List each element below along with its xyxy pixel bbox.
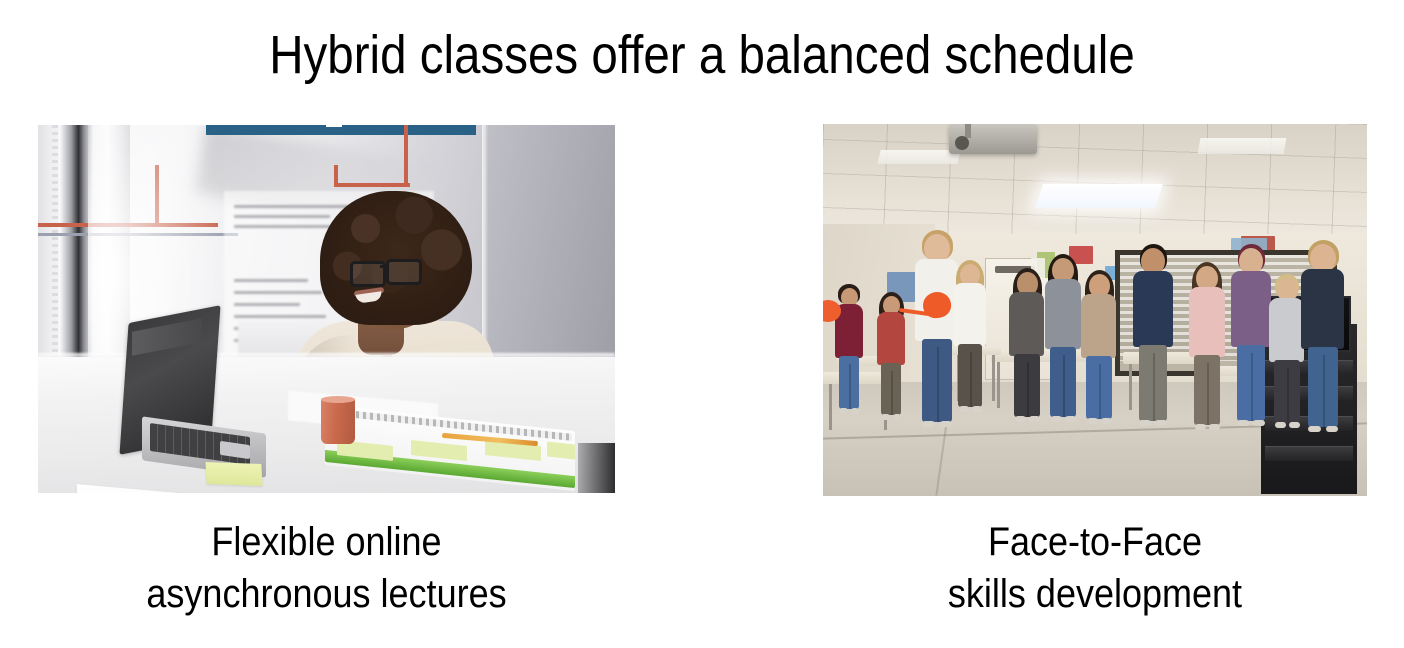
person-shoe [1155,420,1167,426]
caption-online-line1: Flexible online [67,516,586,568]
caption-classroom-line1: Face-to-Face [850,516,1340,568]
ceiling-light-1 [1035,184,1163,208]
person-shoe [1029,416,1040,422]
person-shoe [1209,424,1220,430]
orange-pipe-vertical-1 [404,125,408,183]
notebook-page-tab [547,442,575,460]
person-shoe [1195,424,1206,430]
person-shoe [1289,422,1300,428]
person-shoe [1253,420,1265,426]
person-leg-split [1207,363,1209,425]
person-shoe [922,421,935,427]
projector-mount [965,124,971,138]
person-torso [877,312,905,365]
person-shoe [1308,426,1321,432]
orange-pipe-horizontal-1 [334,183,410,187]
photo-dark-corner [578,443,615,493]
person-torso [1081,294,1116,358]
desk-far-leg [992,355,995,401]
person-shoe [851,408,859,414]
person-torso [1301,269,1344,349]
desk-left-1-leg [829,384,832,430]
person-shoe [1326,426,1339,432]
page-title: Hybrid classes offer a balanced schedule [84,24,1320,86]
eyeglasses-right-lens [386,259,422,285]
person-torso [1189,287,1225,357]
person-shoe [1139,420,1151,426]
mug-rim [321,396,355,403]
person-shoe [1051,416,1062,422]
person-leg-split [1251,353,1253,421]
sticky-note [205,462,262,486]
person-torso [1009,292,1044,356]
ceiling-light-3 [1198,138,1287,154]
person-shoe [881,414,889,420]
person-torso [1269,298,1304,362]
person-torso [1045,279,1081,349]
caption-online-line2: asynchronous lectures [67,568,586,620]
av-shelf-4 [1265,446,1353,461]
person-leg-split [1099,364,1101,419]
person-shoe [940,421,953,427]
person-shoe [1101,418,1112,424]
caption-classroom: Face-to-Face skills development [850,516,1340,620]
person-shoe [893,414,901,420]
eyeglasses-bridge [380,265,388,268]
desk-center-leg [997,362,1000,408]
person-shoe [959,406,969,412]
person-shoe [1237,420,1249,426]
person-leg-split [1323,355,1325,427]
person-leg-split [937,347,939,422]
person-shoe [1275,422,1286,428]
person-torso [1133,271,1173,347]
projector-lens [955,136,969,150]
person-leg-split [1027,362,1029,417]
image-online-learner [38,125,615,493]
person-shoe [1015,416,1026,422]
person-leg-split [1153,353,1155,421]
person-shoe [839,408,847,414]
person-leg-split [970,352,972,407]
image-classroom-group [823,124,1367,496]
orange-pipe-vertical-2 [334,165,338,187]
person-shoe [972,406,982,412]
person-torso [1231,271,1271,347]
person-leg-split [849,364,851,409]
person-leg-split [891,371,893,415]
caption-online: Flexible online asynchronous lectures [67,516,586,620]
person-shoe [1065,416,1076,422]
caption-classroom-line2: skills development [850,568,1340,620]
blue-banner-notch [326,125,342,127]
desk-right-1-leg [1129,364,1132,410]
person-shoe [1087,418,1098,424]
person-hair [320,191,472,325]
person-leg-split [1063,355,1065,417]
person-leg-split [1287,368,1289,423]
person-torso [953,283,986,346]
coffee-mug [321,398,355,444]
